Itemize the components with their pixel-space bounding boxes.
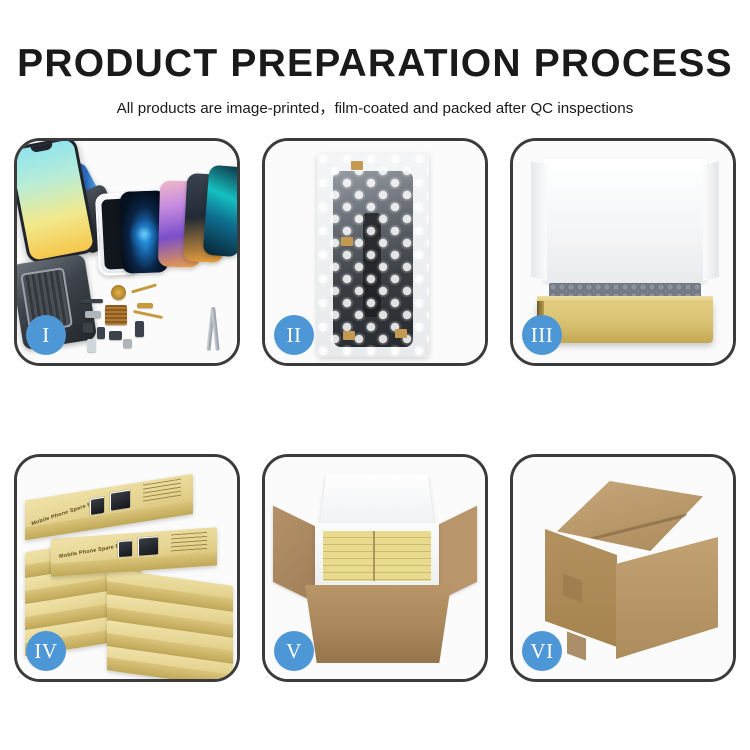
part-camera-module	[83, 323, 93, 333]
carton-tape-patch	[567, 632, 586, 661]
part-flex-cable	[131, 283, 157, 293]
teal-wave-phone	[203, 165, 240, 258]
process-step-grid: I II III	[14, 138, 736, 690]
box-window	[117, 539, 133, 558]
part-chip	[81, 299, 103, 303]
bubble-texture	[317, 153, 429, 357]
process-step-4: Mobile Phone Spare Parts Mobile Phone Sp…	[14, 454, 240, 682]
sealed-carton	[531, 481, 721, 661]
box-window	[137, 535, 159, 557]
process-step-2: II	[262, 138, 488, 366]
part-gold-ic-grid	[105, 305, 127, 325]
step-badge: V	[274, 631, 314, 671]
step-badge: III	[522, 315, 562, 355]
process-step-6: VI	[510, 454, 736, 682]
bag-tape	[341, 237, 353, 246]
part-flex-cable	[133, 310, 163, 319]
foam-box-body	[315, 523, 439, 589]
step-badge: IV	[26, 631, 66, 671]
process-step-1: I	[14, 138, 240, 366]
small-parts-cluster	[79, 283, 175, 363]
part-vibrator	[109, 331, 122, 340]
process-step-5: V	[262, 454, 488, 682]
foam-box-lid	[319, 474, 435, 530]
box-window	[89, 496, 105, 517]
part-metal-bracket	[85, 311, 101, 318]
carton-right-face	[616, 537, 718, 659]
page-title: PRODUCT PREPARATION PROCESS	[0, 0, 750, 85]
box-window	[109, 489, 131, 512]
bubble-wrap-bag	[317, 153, 429, 357]
step-badge: VI	[522, 631, 562, 671]
bag-tape	[395, 329, 407, 338]
box-spec-lines	[171, 532, 207, 555]
bag-tape	[351, 161, 363, 170]
kraft-box-tray	[537, 301, 713, 343]
foreground-phone	[14, 138, 98, 265]
step-badge: II	[274, 315, 314, 355]
part-connector	[97, 327, 105, 339]
tweezers-icon	[199, 307, 233, 353]
product-preparation-infographic: PRODUCT PREPARATION PROCESS All products…	[0, 0, 750, 750]
part-flex-pad	[137, 303, 153, 308]
part-screw-plate	[123, 339, 132, 348]
top-printed-box: Mobile Phone Spare Parts	[51, 527, 217, 577]
box-spec-lines	[143, 479, 181, 505]
part-white-module	[87, 339, 96, 352]
packed-yellow-boxes	[323, 531, 431, 581]
step-badge: I	[26, 315, 66, 355]
process-step-3: III	[510, 138, 736, 366]
outer-carton-body	[305, 585, 451, 663]
bag-tape	[343, 331, 355, 340]
page-subtitle: All products are image-printed，film-coat…	[0, 85, 750, 118]
header: PRODUCT PREPARATION PROCESS All products…	[0, 0, 750, 118]
white-box-lid	[543, 159, 707, 283]
part-sim-tray	[135, 321, 144, 337]
part-speaker-coil	[111, 285, 126, 300]
